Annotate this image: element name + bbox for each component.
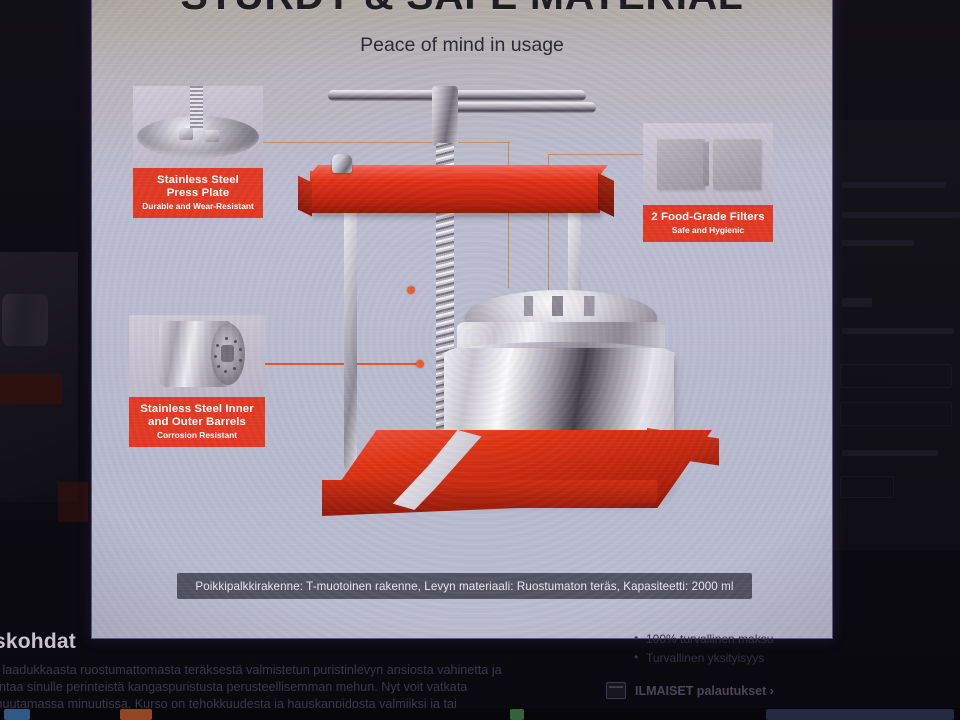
t-handle-bar-segment xyxy=(444,102,596,113)
callout-subtitle: Safe and Hygienic xyxy=(646,226,770,235)
spec-caption-text: Poikkipalkkirakenne: T-muotoinen rakenne… xyxy=(195,580,733,593)
press-plate-rod-icon xyxy=(190,86,203,130)
thumbnail-secondary[interactable] xyxy=(58,482,88,522)
panel-text-line xyxy=(842,450,938,456)
panel-price-line xyxy=(842,298,872,307)
callout-title-line1: Stainless Steel Inner xyxy=(132,403,262,416)
callout-title-line2: Press Plate xyxy=(136,187,260,200)
screenshot-root: STURDY & SAFE MATERIAL Peace of mind in … xyxy=(0,0,960,720)
page-bottom-bar xyxy=(0,708,960,720)
callout-title-line1: 2 Food-Grade Filters xyxy=(646,211,770,224)
callout-barrels-tag: Stainless Steel Inner and Outer Barrels … xyxy=(129,397,265,447)
panel-button-box[interactable] xyxy=(840,476,894,498)
support-post-left xyxy=(344,200,357,470)
taskbar-chip[interactable] xyxy=(766,709,954,720)
callout-subtitle: Corrosion Resistant xyxy=(132,431,262,440)
callout-filters-tag: 2 Food-Grade Filters Safe and Hygienic xyxy=(643,205,773,242)
t-handle-hub xyxy=(432,86,458,146)
press-plate-lugs xyxy=(517,296,605,316)
panel-field-box[interactable] xyxy=(840,364,952,388)
callout-filters[interactable]: 2 Food-Grade Filters Safe and Hygienic xyxy=(643,123,773,242)
panel-text-line xyxy=(842,212,960,218)
free-returns-label: ILMAISET palautukset › xyxy=(635,684,774,698)
taskbar-chip[interactable] xyxy=(510,709,524,720)
press-plate-nut-icon xyxy=(205,130,219,142)
filter-cloth-icon xyxy=(713,139,761,189)
callout-title-line2: and Outer Barrels xyxy=(132,416,262,429)
callout-press-plate-tag: Stainless Steel Press Plate Durable and … xyxy=(133,168,263,218)
thumbnail-red-tag xyxy=(0,374,62,404)
thumbnail-barrel-image xyxy=(2,294,48,346)
callout-subtitle: Durable and Wear-Resistant xyxy=(136,202,260,211)
callout-barrels[interactable]: Stainless Steel Inner and Outer Barrels … xyxy=(129,315,265,447)
spec-caption-bar: Poikkipalkkirakenne: T-muotoinen rakenne… xyxy=(177,573,752,599)
free-returns-link[interactable]: ILMAISET palautukset › xyxy=(606,682,774,699)
barrel-center-icon xyxy=(221,345,234,362)
product-image-card[interactable]: STURDY & SAFE MATERIAL Peace of mind in … xyxy=(92,0,832,638)
trust-bullet-list: 100% turvallinen maksu Turvallinen yksit… xyxy=(632,630,922,668)
page-bottom-content: skohdat n laadukkaasta ruostumattomasta … xyxy=(0,628,960,720)
callout-press-plate[interactable]: Stainless Steel Press Plate Durable and … xyxy=(133,86,263,218)
section-heading: skohdat xyxy=(0,630,76,654)
filter-cloth-icon xyxy=(657,139,705,189)
panel-text-line xyxy=(842,328,954,334)
callout-title-line1: Stainless Steel xyxy=(136,174,260,187)
panel-field-box[interactable] xyxy=(840,402,952,426)
list-item: Turvallinen yksityisyys xyxy=(632,649,922,668)
callout-filters-photo xyxy=(643,123,773,205)
press-plate-nut-icon xyxy=(179,128,193,140)
callout-press-plate-photo xyxy=(133,86,263,168)
red-base-front xyxy=(322,480,712,516)
product-thumbnail-strip[interactable] xyxy=(0,252,78,502)
panel-text-line xyxy=(842,182,946,188)
cap-nut-left xyxy=(332,154,352,173)
right-info-panel xyxy=(832,120,960,550)
callout-barrels-photo xyxy=(129,315,265,397)
returns-box-icon xyxy=(606,682,626,699)
section-description: n laadukkaasta ruostumattomasta teräkses… xyxy=(0,662,532,713)
list-item: 100% turvallinen maksu xyxy=(632,630,922,649)
panel-text-line xyxy=(842,240,914,246)
red-crossbeam xyxy=(310,171,600,213)
taskbar-chip[interactable] xyxy=(4,709,30,720)
taskbar-chip[interactable] xyxy=(120,709,152,720)
